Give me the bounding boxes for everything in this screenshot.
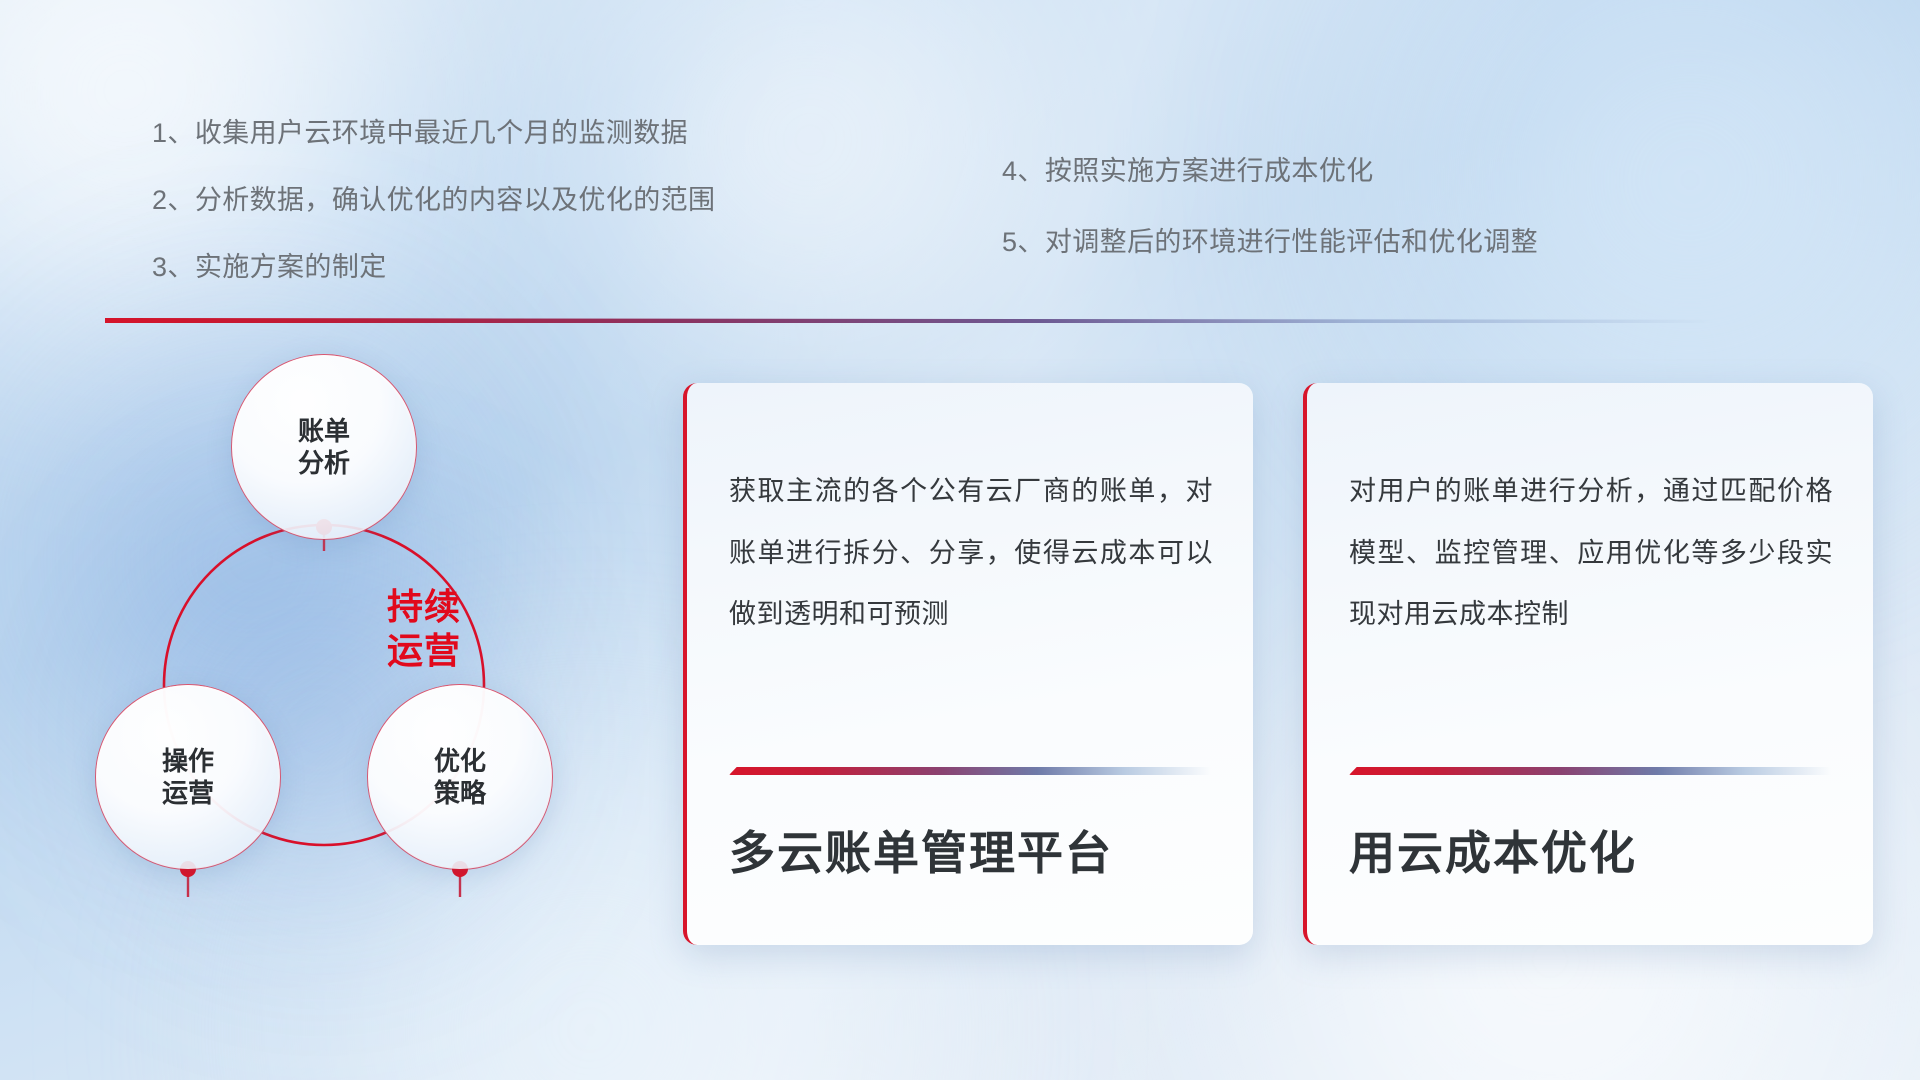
feature-card-multicloud-billing[interactable]: 获取主流的各个公有云厂商的账单，对账单进行拆分、分享，使得云成本可以做到透明和可… — [683, 383, 1253, 945]
venn-bubble-operations-line2: 运营 — [162, 777, 214, 809]
venn-bubble-bill-analysis-line2: 分析 — [298, 447, 350, 479]
steps-list-right: 4、按照实施方案进行成本优化 5、对调整后的环境进行性能评估和优化调整 — [1002, 158, 1762, 300]
venn-center-label-line1: 持续 — [324, 585, 524, 629]
venn-bubble-operations-line1: 操作 — [162, 745, 214, 777]
venn-center-label-line2: 运营 — [324, 629, 524, 673]
feature-card-cloud-cost-optimization[interactable]: 对用户的账单进行分析，通过匹配价格模型、监控管理、应用优化等多少段实现对用云成本… — [1303, 383, 1873, 945]
feature-card-multicloud-billing-accent-bar — [729, 767, 1211, 775]
step-item-4: 4、按照实施方案进行成本优化 — [1002, 158, 1762, 185]
venn-bubble-optimization-strategy[interactable]: 优化 策略 — [368, 685, 552, 869]
feature-card-cloud-cost-optimization-body: 对用户的账单进行分析，通过匹配价格模型、监控管理、应用优化等多少段实现对用云成本… — [1349, 461, 1833, 646]
step-item-5: 5、对调整后的环境进行性能评估和优化调整 — [1002, 229, 1762, 256]
step-item-2: 2、分析数据，确认优化的内容以及优化的范围 — [152, 187, 872, 214]
feature-card-multicloud-billing-body: 获取主流的各个公有云厂商的账单，对账单进行拆分、分享，使得云成本可以做到透明和可… — [729, 461, 1213, 646]
venn-bubble-bill-analysis[interactable]: 账单 分析 — [232, 355, 416, 539]
continuous-operation-venn-diagram: 账单 分析 操作 运营 优化 策略 持续 运营 — [96, 355, 616, 925]
feature-card-cloud-cost-optimization-accent-bar — [1349, 767, 1831, 775]
venn-bubble-bill-analysis-line1: 账单 — [298, 415, 350, 447]
steps-list-left: 1、收集用户云环境中最近几个月的监测数据 2、分析数据，确认优化的内容以及优化的… — [152, 120, 872, 321]
feature-card-cloud-cost-optimization-title: 用云成本优化 — [1349, 817, 1637, 883]
venn-bubble-operations[interactable]: 操作 运营 — [96, 685, 280, 869]
feature-card-multicloud-billing-title: 多云账单管理平台 — [729, 817, 1113, 883]
step-item-3: 3、实施方案的制定 — [152, 254, 872, 281]
venn-center-label: 持续 运营 — [324, 585, 524, 673]
venn-bubble-optimization-strategy-line2: 策略 — [434, 777, 486, 809]
step-item-1: 1、收集用户云环境中最近几个月的监测数据 — [152, 120, 872, 147]
venn-bubble-optimization-strategy-line1: 优化 — [434, 745, 486, 777]
